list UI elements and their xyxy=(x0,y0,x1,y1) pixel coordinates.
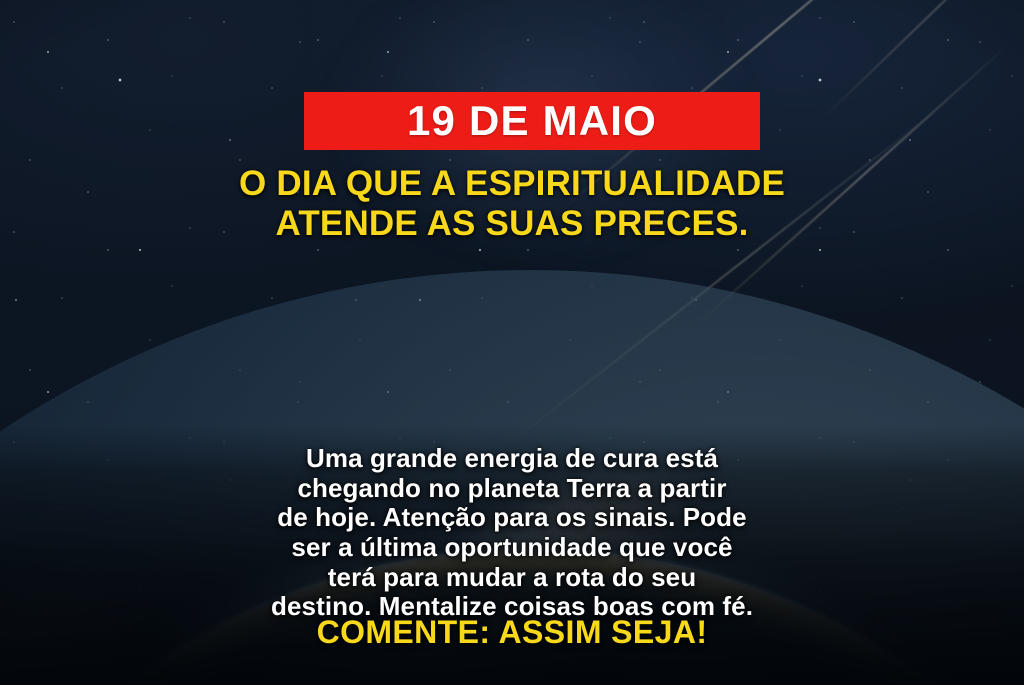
body-line-4: ser a última oportunidade que você xyxy=(50,533,974,563)
body-line-3: de hoje. Atenção para os sinais. Pode xyxy=(50,503,974,533)
poster-image: 19 DE MAIO O DIA QUE A ESPIRITUALIDADE A… xyxy=(0,0,1024,685)
body-copy: Uma grande energia de cura está chegando… xyxy=(50,444,974,622)
headline: O DIA QUE A ESPIRITUALIDADE ATENDE AS SU… xyxy=(0,164,1024,245)
body-line-2: chegando no planeta Terra a partir xyxy=(50,474,974,504)
call-to-action-label: COMENTE: ASSIM SEJA! xyxy=(0,614,1024,651)
date-banner: 19 DE MAIO xyxy=(304,92,760,150)
body-line-1: Uma grande energia de cura está xyxy=(50,444,974,474)
headline-line-2: ATENDE AS SUAS PRECES. xyxy=(0,204,1024,244)
date-banner-label: 19 DE MAIO xyxy=(407,100,657,142)
headline-line-1: O DIA QUE A ESPIRITUALIDADE xyxy=(0,164,1024,204)
body-line-5: terá para mudar a rota do seu xyxy=(50,563,974,593)
